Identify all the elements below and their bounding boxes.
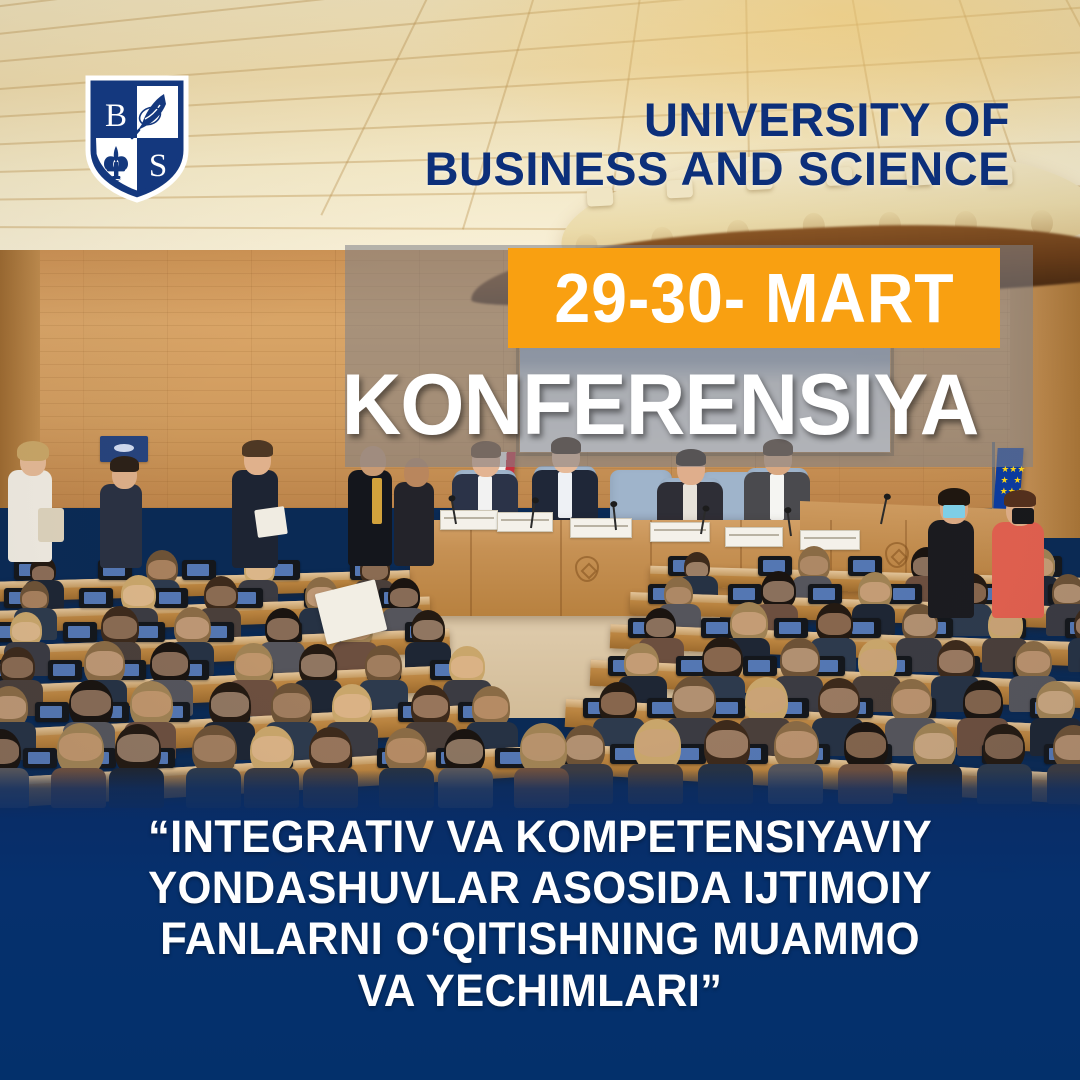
svg-text:S: S (149, 148, 167, 184)
conference-poster: ★★★★ ★★★★ B S (0, 0, 1080, 1080)
event-date-label: 29-30- MART (554, 258, 954, 338)
date-banner: 29-30- MART (508, 248, 1000, 348)
event-type-heading: KONFERENSIYA (314, 356, 1005, 455)
university-shield-logo: B S (82, 72, 192, 204)
university-name: UNIVERSITY OF BUSINESS AND SCIENCE (425, 96, 1010, 194)
svg-text:B: B (105, 98, 127, 134)
conference-topic-title: “INTEGRATIV VA KOMPETENSIYAVIY YONDASHUV… (16, 811, 1064, 1016)
